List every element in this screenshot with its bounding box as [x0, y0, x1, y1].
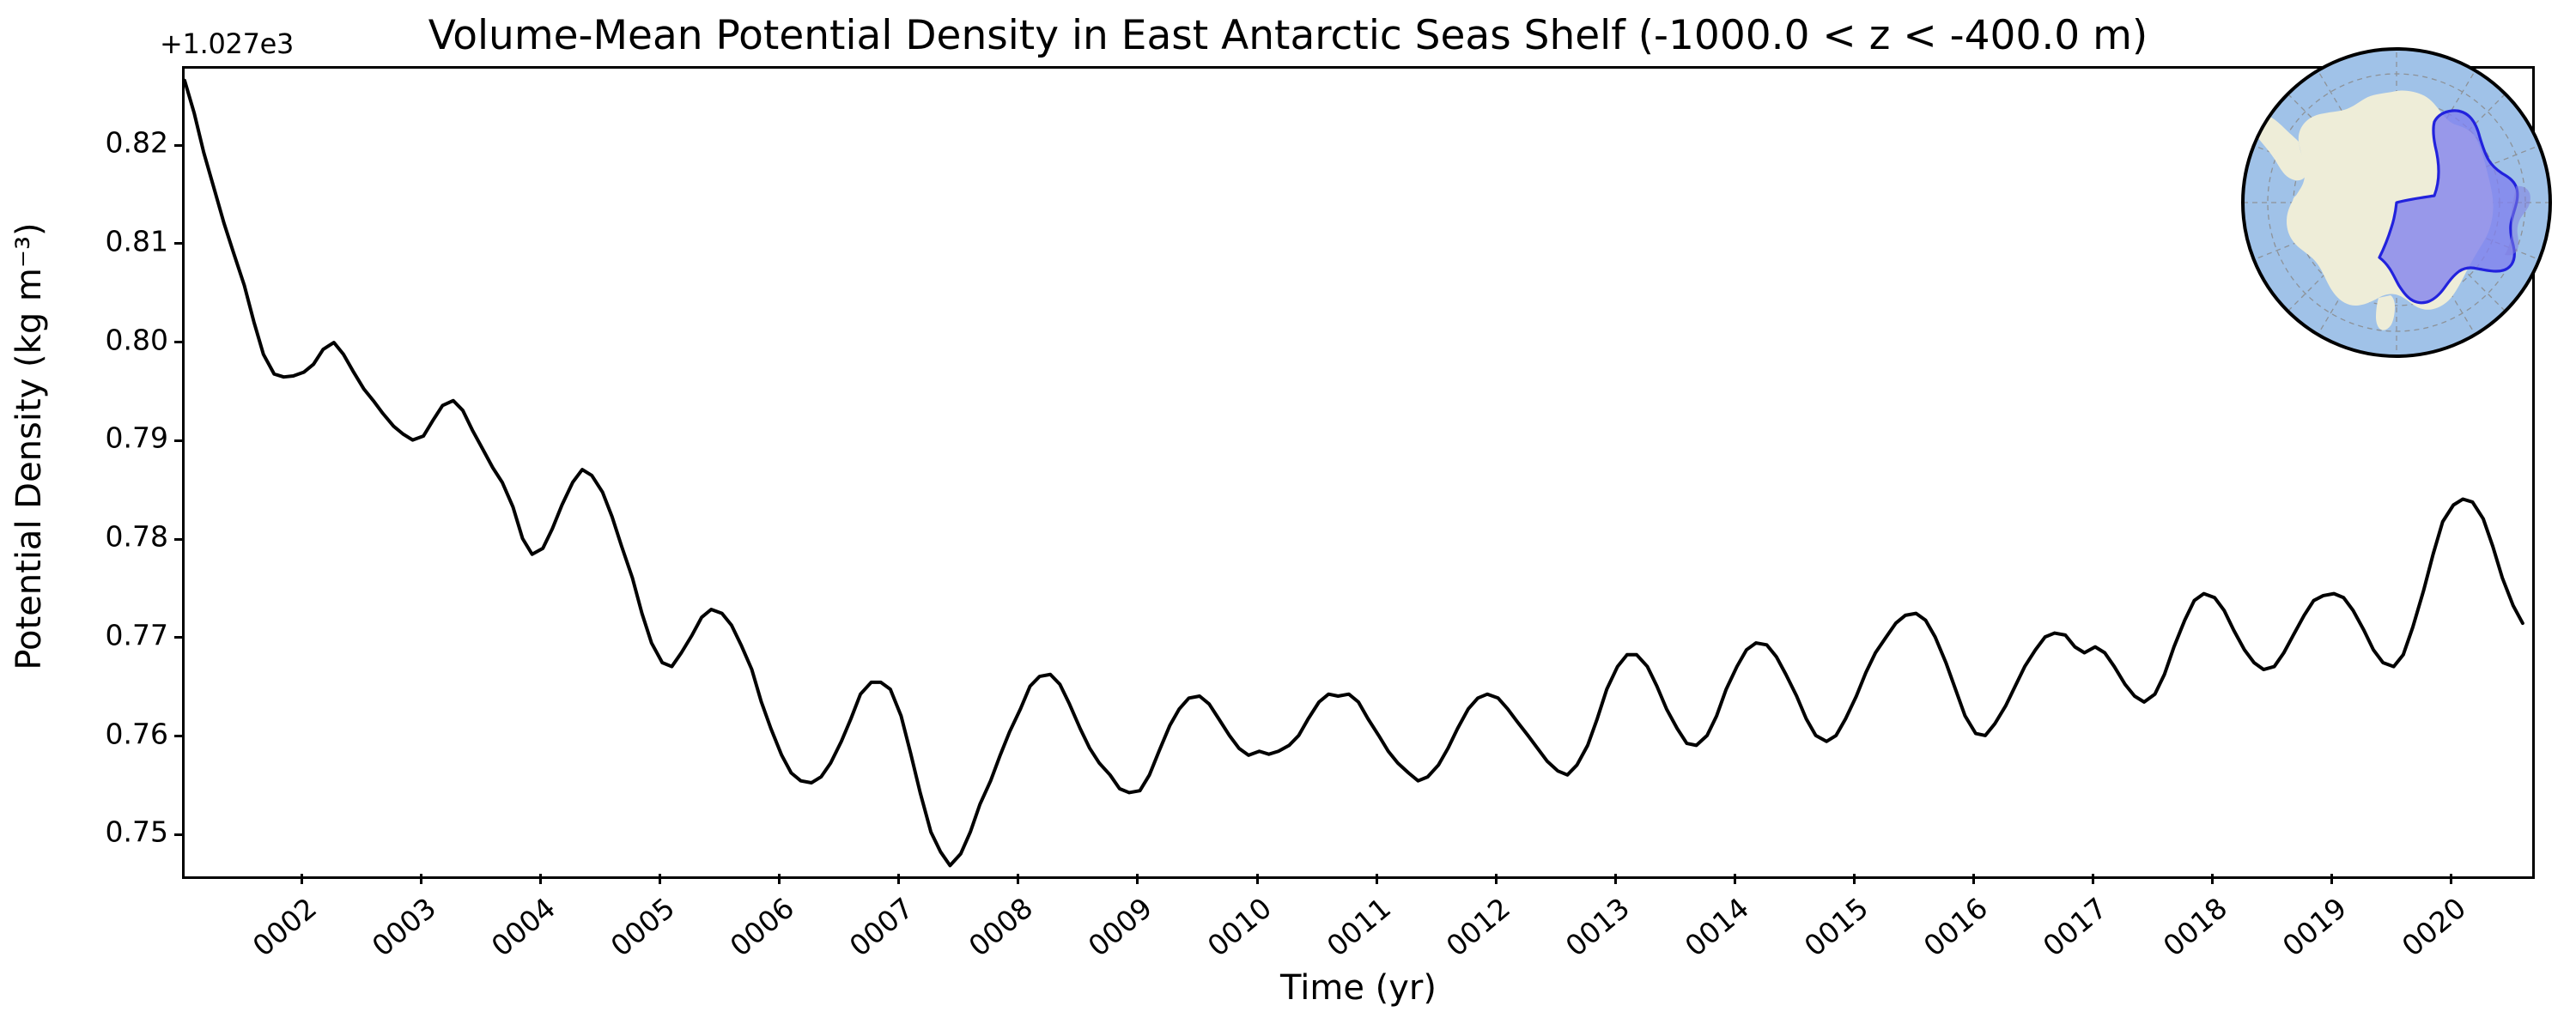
y-tick-mark: [174, 636, 185, 639]
x-tick-mark: [2330, 874, 2333, 884]
x-tick-mark: [778, 874, 781, 884]
coastal-island-b: [2337, 259, 2350, 272]
y-tick-label: 0.78: [106, 520, 168, 554]
x-tick-mark: [1136, 874, 1139, 884]
y-tick-mark: [174, 341, 185, 343]
x-tick-mark: [1734, 874, 1736, 884]
y-tick-mark: [174, 242, 185, 245]
y-tick-label: 0.82: [106, 126, 168, 160]
x-tick-mark: [420, 874, 422, 884]
chart-title: Volume-Mean Potential Density in East An…: [326, 15, 2250, 56]
y-tick-mark: [174, 833, 185, 836]
x-tick-mark: [1495, 874, 1498, 884]
x-tick-mark: [1376, 874, 1378, 884]
y-tick-mark: [174, 735, 185, 737]
y-tick-label: 0.77: [106, 618, 168, 651]
x-tick-mark: [539, 874, 542, 884]
antarctica-map-inset: [2219, 43, 2574, 362]
x-tick-mark: [2211, 874, 2214, 884]
x-tick-mark: [659, 874, 661, 884]
x-tick-mark: [1017, 874, 1019, 884]
chart-page: Volume-Mean Potential Density in East An…: [0, 0, 2576, 1030]
plot-area: [182, 66, 2535, 879]
y-tick-mark: [174, 144, 185, 147]
y-axis-offset-label: +1.027e3: [160, 27, 294, 60]
x-tick-mark: [1256, 874, 1259, 884]
y-tick-label: 0.81: [106, 224, 168, 257]
axis-tick-marks: [185, 69, 2532, 876]
y-tick-label: 0.79: [106, 421, 168, 455]
x-tick-mark: [1972, 874, 1975, 884]
x-tick-mark: [2092, 874, 2094, 884]
x-tick-mark: [1853, 874, 1856, 884]
x-tick-mark: [301, 874, 303, 884]
x-axis-title: Time (yr): [182, 968, 2535, 1008]
x-tick-mark: [897, 874, 900, 884]
polar-stereographic-map: [2219, 43, 2574, 362]
y-axis-tick-labels: 0.750.760.770.780.790.800.810.82: [0, 0, 168, 1030]
x-tick-mark: [1614, 874, 1617, 884]
y-tick-label: 0.75: [106, 815, 168, 849]
y-tick-mark: [174, 439, 185, 442]
x-tick-mark: [2450, 874, 2452, 884]
y-tick-label: 0.76: [106, 717, 168, 750]
y-tick-mark: [174, 538, 185, 541]
y-tick-label: 0.80: [106, 323, 168, 356]
